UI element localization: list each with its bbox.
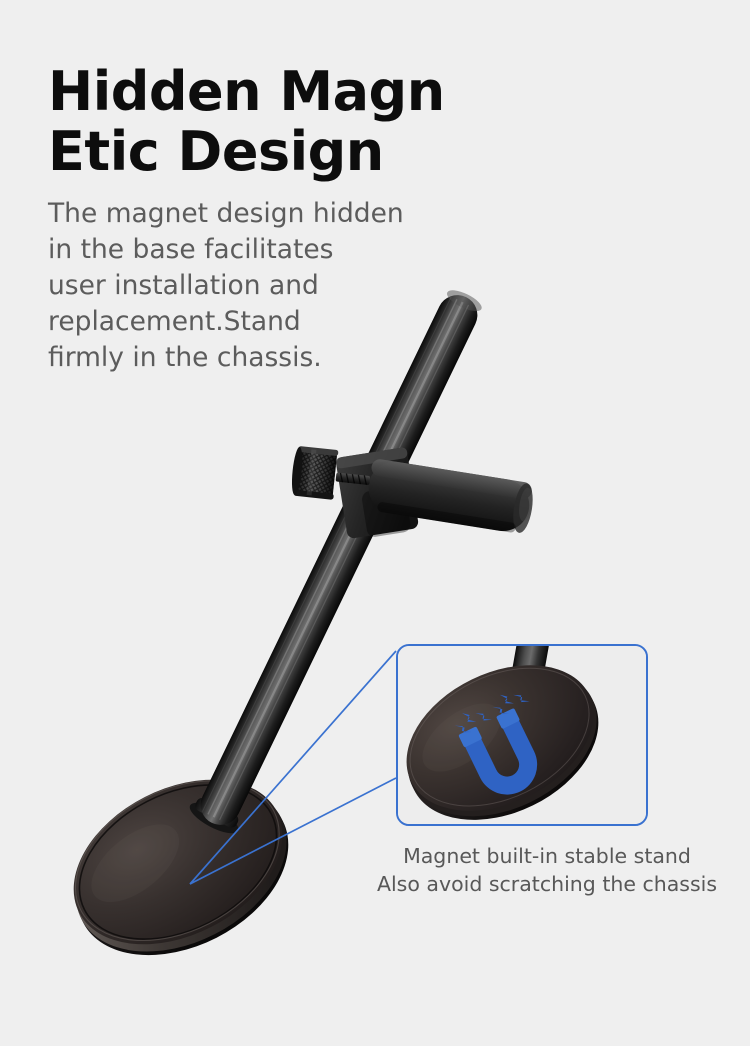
magnet-callout-box [396,644,648,826]
description-paragraph: The magnet design hidden in the base fac… [48,196,448,376]
knurled-thumbscrew [290,446,338,500]
infographic-page: Hidden Magn Etic Design The magnet desig… [0,0,750,1046]
caption-block: Magnet built-in stable stand Also avoid … [352,842,742,898]
page-title: Hidden Magn Etic Design [48,62,518,182]
magnified-base-illustration [398,646,648,826]
caption-line-2: Also avoid scratching the chassis [352,870,742,898]
caption-line-1: Magnet built-in stable stand [352,842,742,870]
base-disc [45,746,316,988]
